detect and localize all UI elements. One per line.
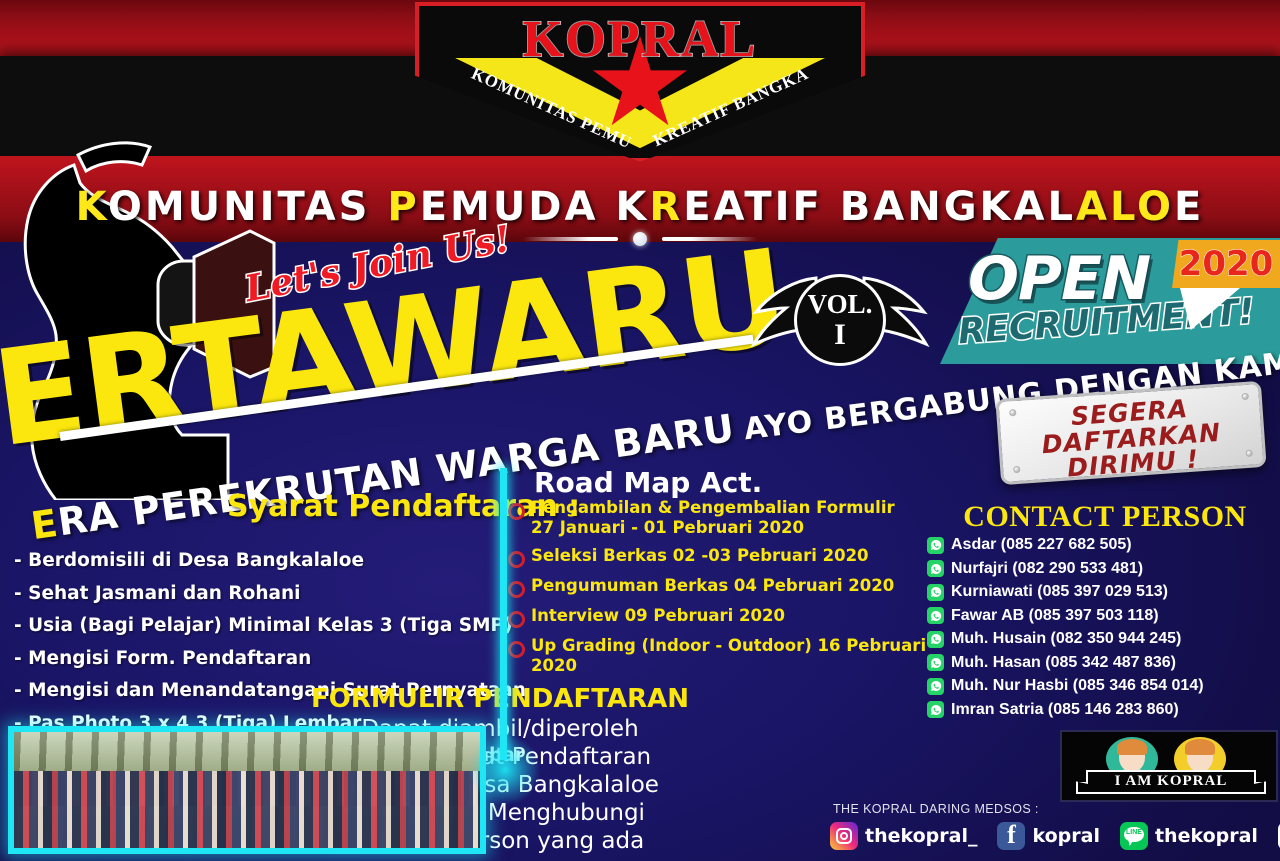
headline-part: EMUDA [420, 184, 616, 230]
community-headline: KOMUNITAS PEMUDA KREATIF BANGKALALOE [0, 184, 1280, 230]
headline-part: OMUNITAS [108, 184, 388, 230]
volume-badge: VOL. I [750, 270, 930, 378]
whatsapp-icon [927, 607, 944, 624]
contact-person-list: Asdar (085 227 682 505)Nurfajri (082 290… [927, 536, 1280, 724]
roadmap-bullet-icon [508, 641, 525, 658]
contact-person-name: Nurfajri (082 290 533 481) [951, 560, 1143, 578]
facebook-icon: f [997, 822, 1025, 850]
badge-text: I AM KOPRAL [1078, 773, 1264, 790]
whatsapp-icon [927, 584, 944, 601]
roadmap-item-text: Pengumuman Berkas 04 Pebruari 2020 [531, 576, 894, 596]
roadmap-item-text: Up Grading (Indoor - Outdoor) 16 Pebruar… [531, 636, 928, 676]
roadmap-bullet-icon [508, 503, 525, 520]
headline-part: ALO [1076, 184, 1174, 230]
contact-person-item[interactable]: Kurniawati (085 397 029 513) [927, 583, 1280, 601]
contact-person-item[interactable]: Muh. Nur Hasbi (085 346 854 014) [927, 677, 1280, 695]
group-photo-image [14, 732, 480, 848]
syarat-item: - Mengisi Form. Pendaftaran [14, 650, 504, 669]
headline-part: E [1174, 184, 1204, 230]
syarat-item: - Usia (Bagi Pelajar) Minimal Kelas 3 (T… [14, 617, 504, 636]
license-plate: SEGERA DAFTARKAN DIRIMU ! [995, 381, 1266, 485]
vol-label: VOL. [808, 291, 873, 318]
contact-person-name: Imran Satria (085 146 283 860) [951, 701, 1179, 719]
roadmap-item-text: Interview 09 Pebruari 2020 [531, 606, 785, 626]
line-icon: LINE [1120, 822, 1148, 850]
whatsapp-icon [927, 701, 944, 718]
vol-number: I [834, 320, 846, 350]
i-am-kopral-badge: I AM KOPRAL [1060, 730, 1278, 802]
whatsapp-icon [927, 631, 944, 648]
instagram-icon [830, 822, 858, 850]
social-link-instagram[interactable]: thekopral_ [830, 822, 977, 850]
badge-ribbon: I AM KOPRAL [1076, 770, 1266, 794]
roadmap-item: Pengambilan & Pengembalian Formulir 27 J… [508, 498, 928, 538]
social-handle: thekopral_ [865, 825, 977, 847]
contact-person-name: Fawar AB (085 397 503 118) [951, 607, 1159, 625]
social-row: thekopral_fkopralLINEthekopralKOPRAL [830, 822, 1280, 850]
whatsapp-icon [927, 537, 944, 554]
roadmap-item-text: Seleksi Berkas 02 -03 Pebruari 2020 [531, 546, 869, 566]
roadmap-item: Up Grading (Indoor - Outdoor) 16 Pebruar… [508, 636, 928, 676]
whatsapp-icon [927, 560, 944, 577]
social-handle: kopral [1032, 825, 1099, 847]
syarat-item: - Sehat Jasmani dan Rohani [14, 585, 504, 604]
contact-person-name: Muh. Hasan (085 342 487 836) [951, 654, 1176, 672]
social-handle: thekopral [1155, 825, 1258, 847]
roadmap-list: Pengambilan & Pengembalian Formulir 27 J… [508, 498, 928, 685]
roadmap-item: Interview 09 Pebruari 2020 [508, 606, 928, 628]
roadmap-bullet-icon [508, 581, 525, 598]
medsos-label: THE KOPRAL DARING MEDSOS : [833, 802, 1039, 816]
headline-part: K [76, 184, 108, 230]
whatsapp-icon [927, 654, 944, 671]
contact-person-item[interactable]: Muh. Husain (082 350 944 245) [927, 630, 1280, 648]
headline-part: K [615, 184, 649, 230]
whatsapp-icon [927, 678, 944, 695]
contact-person-item[interactable]: Imran Satria (085 146 283 860) [927, 701, 1280, 719]
volume-circle: VOL. I [794, 274, 886, 366]
contact-person-item[interactable]: Nurfajri (082 290 533 481) [927, 560, 1280, 578]
social-link-line[interactable]: LINEthekopral [1120, 822, 1258, 850]
avatar-hair [1185, 739, 1215, 755]
contact-person-item[interactable]: Asdar (085 227 682 505) [927, 536, 1280, 554]
group-photo-frame [8, 726, 486, 854]
syarat-item: - Berdomisili di Desa Bangkalaloe [14, 552, 504, 571]
contact-person-name: Muh. Nur Hasbi (085 346 854 014) [951, 677, 1204, 695]
poster-root: KOPRAL KOMUNITAS PEMUDA KREATIF BANGKALA… [0, 0, 1280, 861]
avatar-hair [1117, 739, 1147, 755]
roadmap-bullet-icon [508, 611, 525, 628]
year-text: 2020 [1172, 244, 1280, 284]
logo-wordmark: KOPRAL [415, 10, 865, 69]
roadmap-item-text: Pengambilan & Pengembalian Formulir 27 J… [531, 498, 895, 538]
social-link-facebook[interactable]: fkopral [997, 822, 1099, 850]
kopral-logo: KOPRAL KOMUNITAS PEMUDA KREATIF BANGKALA… [415, 2, 865, 162]
roadmap-heading: Road Map Act. [534, 466, 762, 499]
headline-part: R [649, 184, 683, 230]
year-tag: 2020 [1172, 240, 1280, 288]
contact-person-item[interactable]: Muh. Hasan (085 342 487 836) [927, 654, 1280, 672]
contact-person-heading: CONTACT PERSON [930, 500, 1280, 534]
contact-person-name: Asdar (085 227 682 505) [951, 536, 1132, 554]
photo-crowd-bodies [14, 771, 480, 848]
roadmap-item: Pengumuman Berkas 04 Pebruari 2020 [508, 576, 928, 598]
contact-person-name: Kurniawati (085 397 029 513) [951, 583, 1168, 601]
roadmap-item: Seleksi Berkas 02 -03 Pebruari 2020 [508, 546, 928, 568]
headline-part: P [387, 184, 419, 230]
divider-bar-left [523, 237, 618, 241]
headline-part: BANGKAL [840, 184, 1076, 230]
contact-person-item[interactable]: Fawar AB (085 397 503 118) [927, 607, 1280, 625]
contact-person-name: Muh. Husain (082 350 944 245) [951, 630, 1181, 648]
vertical-divider [500, 468, 507, 760]
roadmap-bullet-icon [508, 551, 525, 568]
